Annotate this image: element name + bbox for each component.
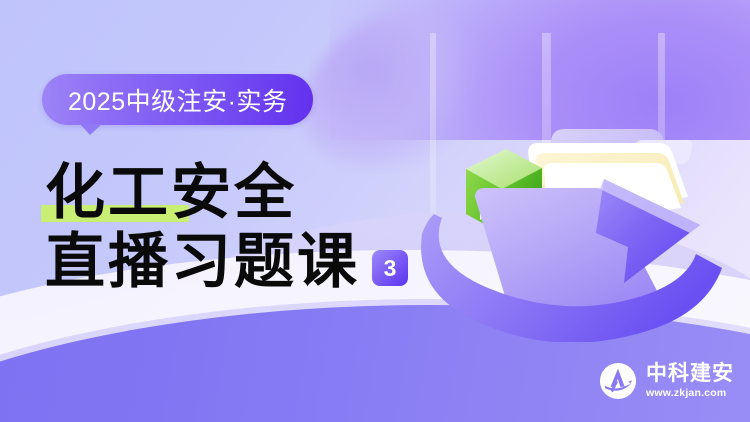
course-tag-label: 2025中级注安·实务 xyxy=(42,74,313,125)
course-tag: 2025中级注安·实务 xyxy=(42,74,313,125)
episode-badge: 3 xyxy=(372,250,408,286)
headline-text-1: 化工安全 xyxy=(45,163,297,223)
poster-headline: 化工安全 直播习题课 3 xyxy=(45,163,408,292)
brand-text: 中科建安 www.zkjan.com xyxy=(646,362,734,399)
course-tag-tail xyxy=(80,124,102,135)
headline-line-2: 直播习题课 3 xyxy=(45,232,408,292)
headline-line-1: 化工安全 xyxy=(45,163,408,223)
course-poster: 2025中级注安·实务 化工安全 直播习题课 3 中科建安 www.zkjan.… xyxy=(0,0,750,422)
brand-name: 中科建安 xyxy=(646,362,734,385)
folder-illustration xyxy=(418,6,750,342)
zkjan-logo-icon xyxy=(599,362,637,400)
headline-text-2: 直播习题课 xyxy=(45,232,360,292)
brand-url: www.zkjan.com xyxy=(646,387,734,400)
brand-logo: 中科建安 www.zkjan.com xyxy=(599,362,734,400)
